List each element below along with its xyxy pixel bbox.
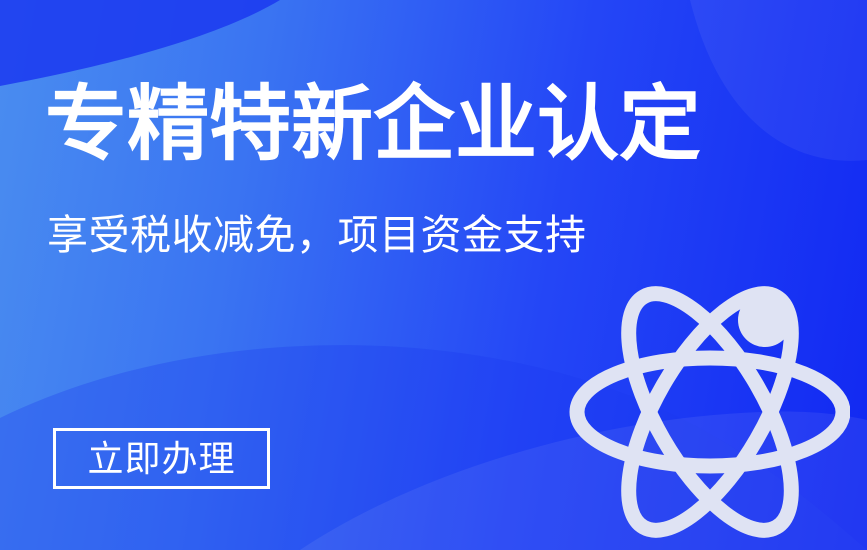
- atom-nucleus-icon: [738, 293, 792, 347]
- promo-banner: 专精特新企业认定 享受税收减免，项目资金支持 立即办理: [0, 0, 867, 550]
- atom-icon: [560, 282, 850, 544]
- banner-subtitle: 享受税收减免，项目资金支持: [47, 215, 587, 256]
- atom-orbit-1: [577, 358, 843, 466]
- top-right-arc: [690, 0, 867, 161]
- banner-title: 专精特新企业认定: [45, 84, 701, 166]
- apply-now-button[interactable]: 立即办理: [53, 428, 270, 489]
- top-left-blob: [0, 0, 280, 86]
